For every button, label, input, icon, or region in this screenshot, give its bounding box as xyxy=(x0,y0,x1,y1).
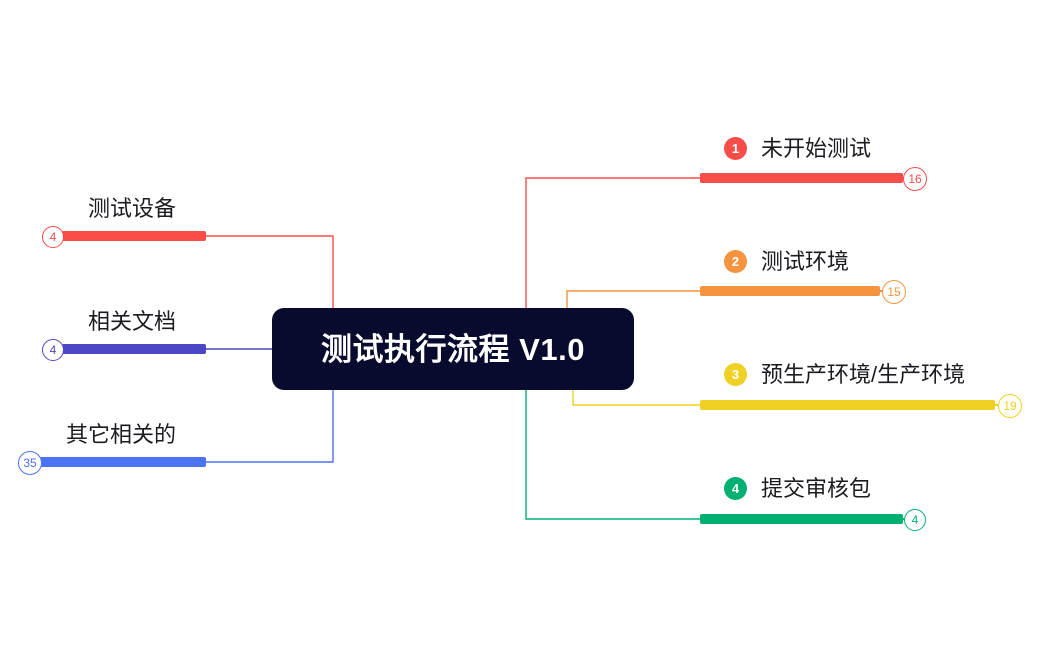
left-branch-label-3: 其它相关的 xyxy=(66,424,176,446)
left-branch-topic-1[interactable]: 测试设备 xyxy=(88,198,176,220)
right-branch-topic-3[interactable]: 3预生产环境/生产环境 xyxy=(724,363,965,386)
right-branch-bar-3[interactable] xyxy=(700,400,995,410)
right-connector-2 xyxy=(567,291,700,308)
right-branch-label-2: 测试环境 xyxy=(761,251,849,273)
right-branch-label-3: 预生产环境/生产环境 xyxy=(761,364,965,386)
left-branch-bar-3[interactable] xyxy=(40,457,206,467)
left-branch-label-2: 相关文档 xyxy=(88,311,176,333)
left-branch-label-1: 测试设备 xyxy=(88,198,176,220)
right-count-bubble-1[interactable]: 16 xyxy=(903,167,927,191)
right-connector-1 xyxy=(526,178,700,308)
left-branch-bar-2[interactable] xyxy=(62,344,206,354)
right-branch-label-1: 未开始测试 xyxy=(761,138,871,160)
right-branch-bar-4[interactable] xyxy=(700,514,903,524)
left-count-bubble-1[interactable]: 4 xyxy=(42,226,64,248)
right-count-bubble-4[interactable]: 4 xyxy=(904,509,926,531)
right-branch-bar-2[interactable] xyxy=(700,286,880,296)
right-branch-topic-2[interactable]: 2测试环境 xyxy=(724,250,849,273)
right-branch-bar-1[interactable] xyxy=(700,173,903,183)
left-count-bubble-2[interactable]: 4 xyxy=(42,339,64,361)
left-connector-3 xyxy=(206,390,333,462)
right-count-bubble-3[interactable]: 19 xyxy=(998,394,1022,418)
center-node[interactable]: 测试执行流程 V1.0 xyxy=(272,308,634,390)
branch-number-badge-4: 4 xyxy=(724,477,747,500)
right-count-bubble-2[interactable]: 15 xyxy=(882,280,906,304)
left-connector-1 xyxy=(206,236,333,308)
right-branch-label-4: 提交审核包 xyxy=(761,478,871,500)
right-branch-topic-1[interactable]: 1未开始测试 xyxy=(724,137,871,160)
left-branch-bar-1[interactable] xyxy=(62,231,206,241)
branch-number-badge-3: 3 xyxy=(724,363,747,386)
center-node-label: 测试执行流程 V1.0 xyxy=(321,334,585,365)
right-connector-4 xyxy=(526,390,700,519)
right-connector-3 xyxy=(573,390,700,405)
right-branch-topic-4[interactable]: 4提交审核包 xyxy=(724,477,871,500)
branch-number-badge-2: 2 xyxy=(724,250,747,273)
left-branch-topic-3[interactable]: 其它相关的 xyxy=(66,424,176,446)
left-count-bubble-3[interactable]: 35 xyxy=(18,451,42,475)
left-branch-topic-2[interactable]: 相关文档 xyxy=(88,311,176,333)
mindmap-canvas: 测试执行流程 V1.0 4测试设备4相关文档35其它相关的161未开始测试152… xyxy=(0,0,1047,650)
branch-number-badge-1: 1 xyxy=(724,137,747,160)
